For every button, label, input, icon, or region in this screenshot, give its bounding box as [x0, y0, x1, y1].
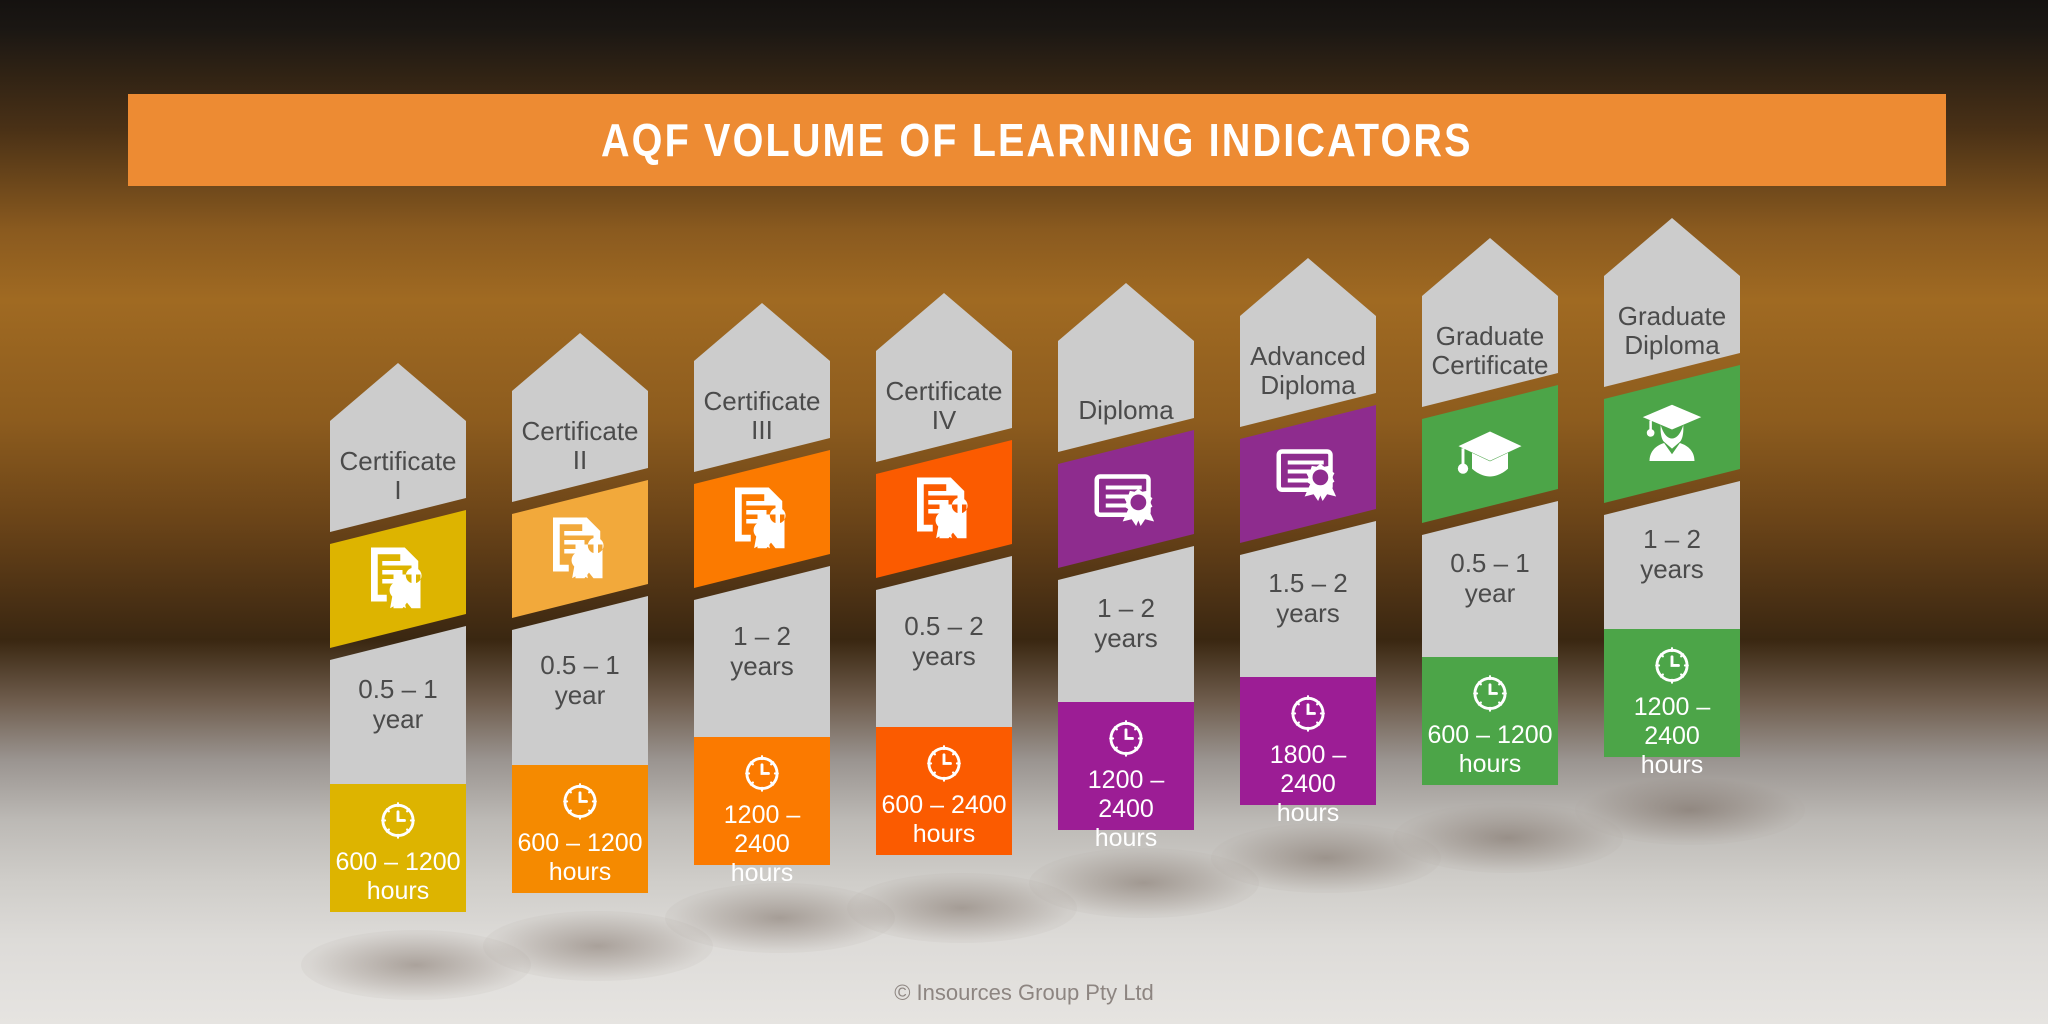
- hours-unit: hours: [1095, 824, 1158, 853]
- copyright-footer: © Insources Group Pty Ltd: [0, 980, 2048, 1006]
- qualification-column[interactable]: AdvancedDiploma 1.5 – 2years 1800 – 2400…: [1240, 258, 1376, 805]
- duration-value: 0.5 – 1: [1450, 549, 1530, 579]
- certificate-portrait-icon: [544, 513, 616, 585]
- column-shadow: [1575, 775, 1805, 845]
- duration-value: 1 – 2: [1094, 594, 1158, 624]
- qualification-title-line2: Diploma: [1240, 371, 1376, 400]
- qualification-title-line2: IV: [876, 406, 1012, 435]
- icon-band: [512, 480, 648, 618]
- duration-band: 0.5 – 1year: [1422, 501, 1558, 657]
- hours-value: 600 – 2400: [881, 791, 1006, 820]
- hours-unit: hours: [913, 820, 976, 849]
- hours-unit: hours: [731, 859, 794, 888]
- clock-icon: [1467, 669, 1513, 715]
- qualification-column[interactable]: Diploma 1 – 2years 1200 – 2400hours: [1058, 283, 1194, 830]
- hours-band: 600 – 2400hours: [876, 727, 1012, 855]
- qualification-column[interactable]: GraduateDiploma 1 – 2years 1200 – 2400ho…: [1604, 218, 1740, 757]
- hours-value: 1800 – 2400: [1240, 741, 1376, 799]
- duration-band: 1.5 – 2years: [1240, 521, 1376, 677]
- hours-band: 1200 – 2400hours: [1604, 629, 1740, 757]
- clock-icon-wrap: [1649, 641, 1695, 687]
- graduate-person-icon: [1636, 398, 1708, 470]
- hours-unit: hours: [1641, 751, 1704, 780]
- duration-unit: year: [358, 705, 438, 735]
- qualification-title-line2: Certificate: [1422, 351, 1558, 380]
- duration-value: 0.5 – 1: [540, 651, 620, 681]
- hours-unit: hours: [367, 877, 430, 906]
- infographic-stage: AQF VOLUME OF LEARNING INDICATORS Certif…: [0, 0, 2048, 1024]
- duration-unit: years: [904, 642, 984, 672]
- qualification-title: Certificate: [512, 417, 648, 446]
- qualification-title: Diploma: [1058, 396, 1194, 425]
- qualification-title: Certificate: [694, 387, 830, 416]
- icon-band: [876, 440, 1012, 578]
- hours-band: 1800 – 2400hours: [1240, 677, 1376, 805]
- qualification-title: Certificate: [876, 377, 1012, 406]
- clock-icon-wrap: [739, 749, 785, 795]
- qualification-column[interactable]: CertificateIV 0.5 – 2years 600 – 2400hou…: [876, 293, 1012, 855]
- column-shadow: [1393, 803, 1623, 873]
- qualification-column[interactable]: GraduateCertificate 0.5 – 1year 600 – 12…: [1422, 238, 1558, 785]
- icon-band: [330, 510, 466, 648]
- qualification-title-line2: Diploma: [1604, 331, 1740, 360]
- column-shadow: [1211, 823, 1441, 893]
- duration-band: 0.5 – 1year: [330, 626, 466, 784]
- duration-band: 1 – 2years: [1058, 546, 1194, 702]
- hours-band: 1200 – 2400hours: [1058, 702, 1194, 830]
- hours-unit: hours: [549, 858, 612, 887]
- hours-value: 1200 – 2400: [1058, 766, 1194, 824]
- duration-unit: years: [1094, 624, 1158, 654]
- qualification-column[interactable]: CertificateIII 1 – 2years 1200 – 2400hou…: [694, 303, 830, 865]
- hours-band: 600 – 1200hours: [1422, 657, 1558, 785]
- qualification-column[interactable]: CertificateI 0.5 – 1year 600 – 1200hours: [330, 363, 466, 912]
- duration-value: 1 – 2: [730, 622, 794, 652]
- duration-band: 0.5 – 1year: [512, 596, 648, 765]
- duration-band: 1 – 2years: [1604, 481, 1740, 629]
- clock-icon: [1285, 689, 1331, 735]
- qualification-title-line2: II: [512, 446, 648, 475]
- page-title: AQF VOLUME OF LEARNING INDICATORS: [601, 113, 1473, 167]
- clock-icon: [375, 796, 421, 842]
- column-shadow: [483, 911, 713, 981]
- duration-value: 0.5 – 2: [904, 612, 984, 642]
- certificate-portrait-icon: [726, 483, 798, 555]
- clock-icon-wrap: [375, 796, 421, 842]
- clock-icon: [739, 749, 785, 795]
- clock-icon: [921, 739, 967, 785]
- duration-unit: years: [1268, 599, 1348, 629]
- hours-band: 1200 – 2400hours: [694, 737, 830, 865]
- graduation-cap-icon: [1454, 418, 1526, 490]
- column-shadow: [847, 873, 1077, 943]
- duration-unit: years: [730, 652, 794, 682]
- duration-value: 1.5 – 2: [1268, 569, 1348, 599]
- qualification-title: Advanced: [1240, 342, 1376, 371]
- certificate-portrait-icon: [362, 543, 434, 615]
- hours-unit: hours: [1459, 750, 1522, 779]
- duration-value: 0.5 – 1: [358, 675, 438, 705]
- title-bar: AQF VOLUME OF LEARNING INDICATORS: [128, 94, 1946, 186]
- duration-value: 1 – 2: [1640, 525, 1704, 555]
- duration-unit: years: [1640, 555, 1704, 585]
- clock-icon: [1103, 714, 1149, 760]
- duration-unit: year: [540, 681, 620, 711]
- icon-band: [694, 450, 830, 588]
- clock-icon: [1649, 641, 1695, 687]
- clock-icon-wrap: [557, 777, 603, 823]
- icon-band: [1240, 405, 1376, 543]
- column-shadow: [1029, 848, 1259, 918]
- clock-icon: [557, 777, 603, 823]
- qualification-title: Graduate: [1604, 302, 1740, 331]
- icon-band: [1058, 430, 1194, 568]
- qualification-title: Graduate: [1422, 322, 1558, 351]
- certificate-landscape-icon: [1090, 463, 1162, 535]
- hours-band: 600 – 1200hours: [330, 784, 466, 912]
- duration-unit: year: [1450, 579, 1530, 609]
- clock-icon-wrap: [1103, 714, 1149, 760]
- hours-unit: hours: [1277, 799, 1340, 828]
- icon-band: [1604, 365, 1740, 503]
- clock-icon-wrap: [1285, 689, 1331, 735]
- clock-icon-wrap: [921, 739, 967, 785]
- hours-band: 600 – 1200hours: [512, 765, 648, 893]
- certificate-portrait-icon: [908, 473, 980, 545]
- hours-value: 1200 – 2400: [1604, 693, 1740, 751]
- qualification-title-line2: III: [694, 416, 830, 445]
- qualification-title-line2: I: [330, 476, 466, 505]
- hours-value: 1200 – 2400: [694, 801, 830, 859]
- hours-value: 600 – 1200: [1427, 721, 1552, 750]
- duration-band: 1 – 2years: [694, 566, 830, 737]
- icon-band: [1422, 385, 1558, 523]
- hours-value: 600 – 1200: [335, 848, 460, 877]
- qualification-column[interactable]: CertificateII 0.5 – 1year 600 – 1200hour…: [512, 333, 648, 893]
- duration-band: 0.5 – 2years: [876, 556, 1012, 727]
- qualification-title: Certificate: [330, 447, 466, 476]
- column-shadow: [665, 883, 895, 953]
- hours-value: 600 – 1200: [517, 829, 642, 858]
- clock-icon-wrap: [1467, 669, 1513, 715]
- certificate-landscape-icon: [1272, 438, 1344, 510]
